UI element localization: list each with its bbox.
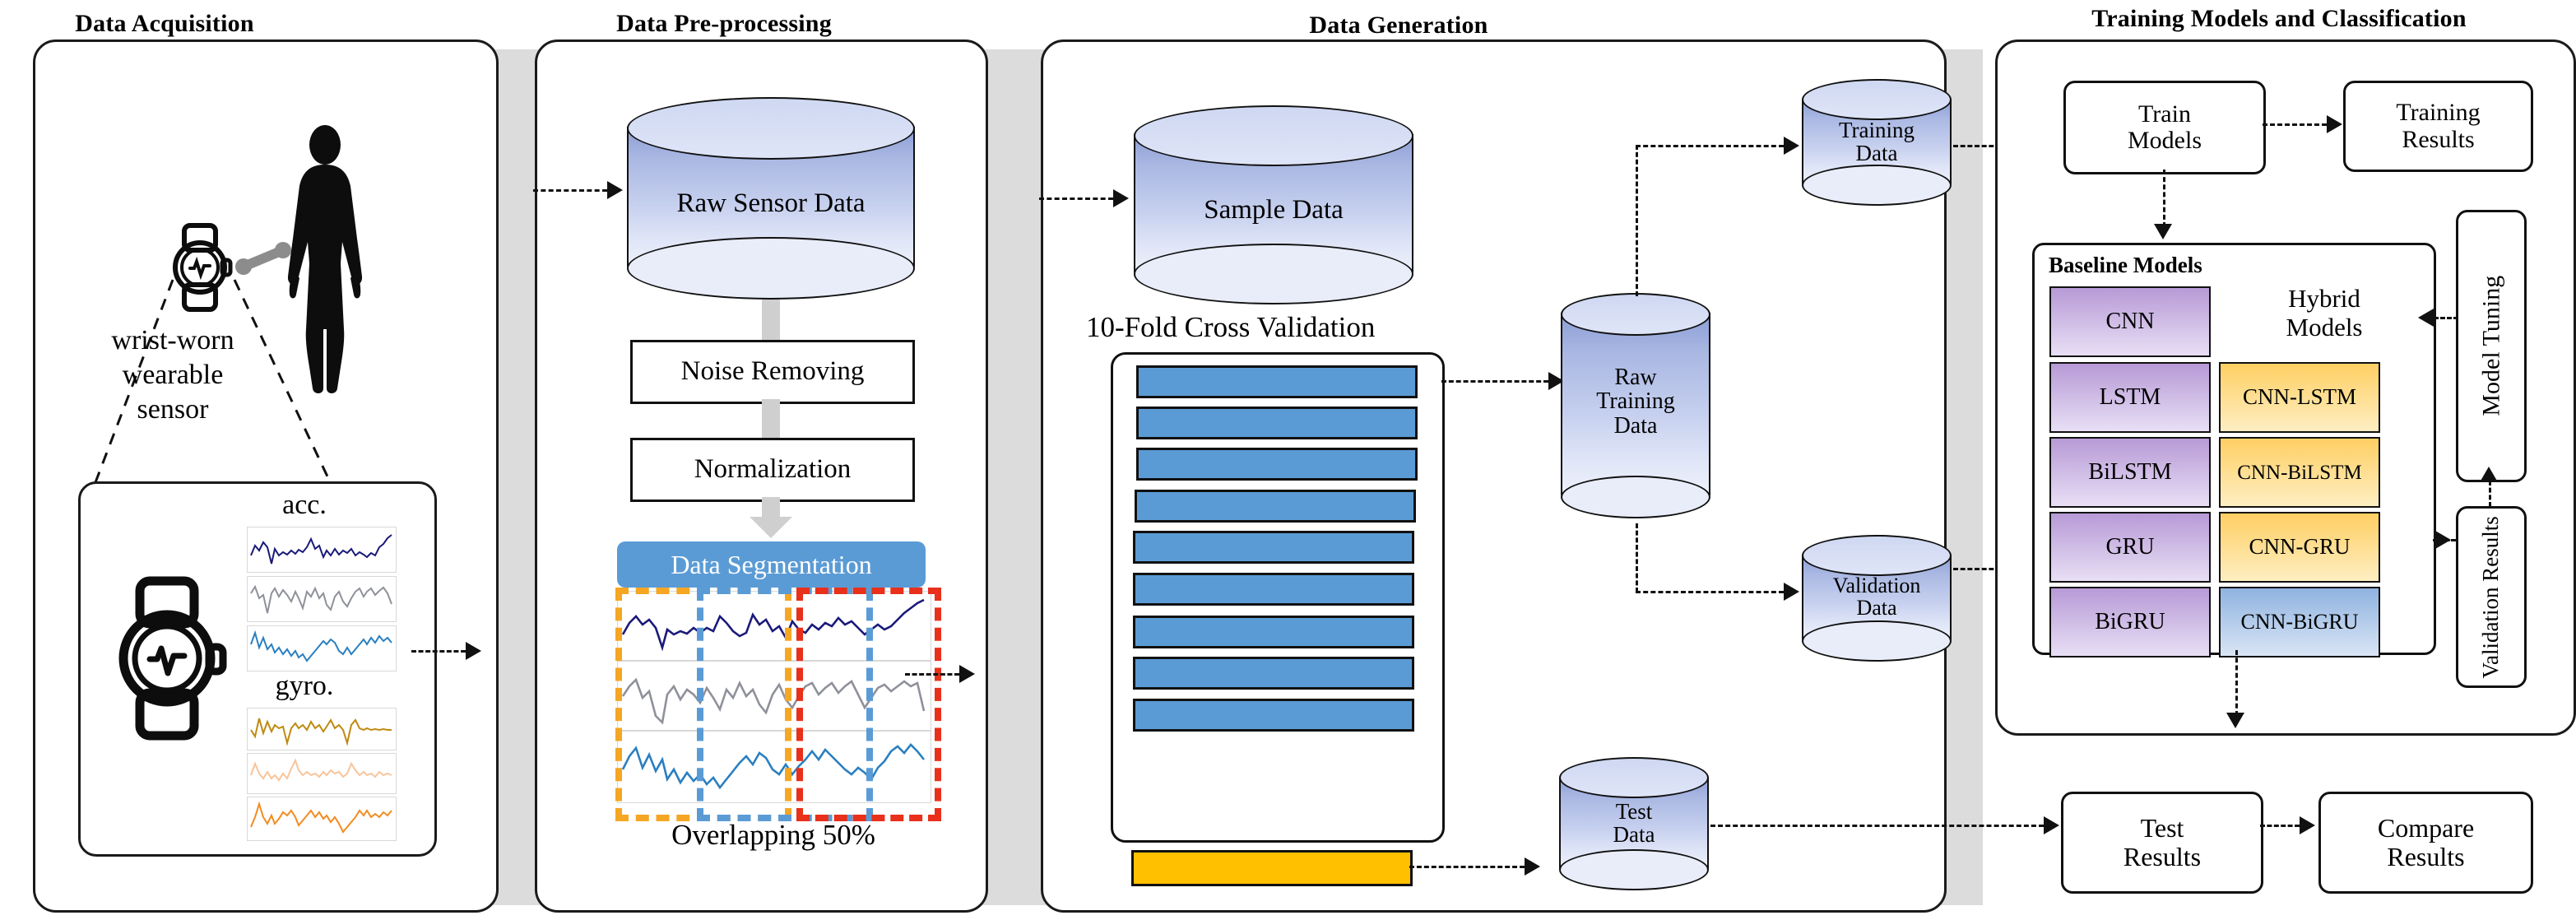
model-cnn-bigru-label: CNN-BiGRU (2240, 611, 2358, 634)
segment-window-c (796, 588, 941, 821)
training-results-box[interactable]: Training Results (2343, 81, 2533, 172)
step-noise-removing[interactable]: Noise Removing (630, 340, 915, 404)
baseline-models-title: Baseline Models (2049, 253, 2202, 278)
arrow-acquisition-to-preprocessing (411, 650, 466, 653)
model-cnn-lstm[interactable]: CNN-LSTM (2219, 362, 2380, 433)
cross-validation-title: 10-Fold Cross Validation (1086, 311, 1547, 344)
store-training-data-l2: Data (1802, 142, 1952, 165)
store-raw-training-data: Raw Training Data (1561, 293, 1710, 525)
model-bigru[interactable]: BiGRU (2049, 587, 2211, 657)
store-raw-training-data-l2: Training (1561, 389, 1710, 413)
sensor-caption-line3: sensor (66, 394, 280, 425)
model-cnn-gru-label: CNN-GRU (2249, 535, 2350, 559)
callout-lines (78, 272, 350, 510)
arrow-test-fold-to-test-data (1409, 866, 1525, 868)
overlap-caption: Overlapping 50% (609, 819, 938, 852)
store-sample-data-label: Sample Data (1134, 196, 1413, 225)
train-models-l2: Models (2128, 128, 2202, 154)
arrowhead-tuning-from-validation (2480, 467, 2498, 482)
panel-title-acquisition: Data Acquisition (49, 10, 280, 38)
arrow-train-models-to-training-results (2263, 123, 2327, 126)
hybrid-models-title-l2: Models (2242, 313, 2407, 342)
model-cnn-lstm-label: CNN-LSTM (2243, 385, 2356, 409)
flow-arrowhead-segmentation (750, 517, 792, 538)
arrowhead-test-results-from-models (2226, 713, 2244, 728)
training-results-l2: Results (2402, 127, 2474, 153)
fold-bar-8 (1133, 657, 1414, 690)
arrow-into-raw-sensor-data (533, 189, 607, 192)
arrow-raw-training-to-validation-data (1636, 591, 1784, 593)
store-sample-data: Sample Data (1134, 105, 1413, 301)
line-validation-to-tuning (2489, 481, 2491, 507)
model-bilstm-label: BiLSTM (2088, 460, 2171, 485)
arrow-model-tuning-to-models (2434, 317, 2458, 319)
signal-plot-gyro-x (247, 708, 397, 750)
flow-noise-to-normalization (762, 399, 780, 439)
fold-bar-9 (1133, 699, 1414, 732)
sensor-caption-line1: wrist-worn (66, 325, 280, 356)
validation-results-box[interactable]: Validation Results (2456, 506, 2527, 688)
data-segmentation-label: Data Segmentation (671, 551, 871, 579)
arrowhead-into-raw-sensor-data (607, 181, 623, 199)
signal-plot-gyro-y (247, 753, 397, 794)
line-models-to-test-results (2235, 650, 2238, 716)
flow-normalization-to-segmentation (762, 497, 780, 518)
store-training-data-l1: Training (1802, 118, 1952, 142)
arrowhead-acquisition-to-preprocessing (466, 642, 481, 660)
acc-label: acc. (239, 490, 370, 521)
step-noise-removing-label: Noise Removing (681, 357, 865, 387)
figure-canvas: Data Acquisition Data Pre-processing Dat… (0, 0, 2576, 920)
arrowhead-to-training-data (1784, 137, 1799, 155)
data-segmentation-button[interactable]: Data Segmentation (617, 541, 926, 588)
train-models-l1: Train (2138, 101, 2191, 128)
signal-plot-acc-z (247, 625, 397, 671)
test-results-box[interactable]: Test Results (2061, 792, 2263, 894)
test-results-l1: Test (2141, 814, 2184, 843)
step-normalization-label: Normalization (694, 455, 852, 485)
line-train-models-down (2163, 170, 2165, 227)
model-cnn-gru[interactable]: CNN-GRU (2219, 512, 2380, 583)
model-gru[interactable]: GRU (2049, 512, 2211, 583)
store-test-data-l2: Data (1559, 823, 1709, 846)
arrowhead-models-from-tuning (2418, 309, 2434, 327)
arrow-raw-training-to-training-data (1636, 145, 1784, 147)
test-results-l2: Results (2123, 843, 2201, 871)
fold-bar-3 (1136, 448, 1418, 481)
arrow-preprocessing-to-generation (905, 673, 959, 676)
fold-bar-10-test (1131, 850, 1413, 886)
model-cnn-bilstm-label: CNN-BiLSTM (2237, 462, 2361, 484)
arrow-test-results-to-compare-results (2260, 825, 2300, 827)
validation-results-l2: Results (2478, 516, 2503, 582)
arrowhead-into-sample-data (1113, 189, 1129, 207)
step-normalization[interactable]: Normalization (630, 438, 915, 502)
store-validation-data: Validation Data (1802, 535, 1952, 667)
signal-plot-gyro-z (247, 797, 397, 841)
arrow-test-data-to-test-results (1710, 825, 2044, 827)
signal-plot-acc-y (247, 576, 397, 622)
model-tuning-box[interactable]: Model Tuning (2456, 210, 2527, 482)
panel-title-generation: Data Generation (1193, 12, 1604, 39)
store-validation-data-l2: Data (1802, 597, 1952, 619)
model-cnn-bigru[interactable]: CNN-BiGRU (2219, 587, 2380, 657)
compare-results-box[interactable]: Compare Results (2318, 792, 2533, 894)
model-cnn[interactable]: CNN (2049, 286, 2211, 357)
model-gru-label: GRU (2105, 535, 2154, 560)
fold-bar-1 (1136, 365, 1418, 398)
signal-plot-acc-x (247, 527, 397, 573)
model-tuning-label: Model Tuning (2478, 276, 2504, 416)
panel-title-training: Training Models and Classification (1991, 5, 2567, 33)
fold-bar-5 (1133, 531, 1414, 564)
train-models-box[interactable]: Train Models (2063, 81, 2266, 174)
arrowhead-test-results (2044, 816, 2059, 834)
fold-bar-4 (1135, 490, 1416, 523)
model-cnn-bilstm[interactable]: CNN-BiLSTM (2219, 437, 2380, 508)
validation-results-l1: Validation (2478, 587, 2503, 678)
model-bilstm[interactable]: BiLSTM (2049, 437, 2211, 508)
store-training-data: Training Data (1802, 79, 1952, 211)
store-raw-sensor-data-label: Raw Sensor Data (627, 189, 915, 218)
model-lstm[interactable]: LSTM (2049, 362, 2211, 433)
sensor-caption-line2: wearable (66, 360, 280, 391)
arrowhead-to-validation-data (1784, 583, 1799, 601)
store-raw-sensor-data: Raw Sensor Data (627, 97, 915, 296)
arrowhead-preprocessing-to-generation (959, 665, 975, 683)
fold-bar-6 (1133, 573, 1414, 606)
model-cnn-label: CNN (2105, 309, 2154, 334)
arrowhead-baseline-from-train-models (2154, 224, 2172, 239)
store-raw-training-data-l1: Raw (1561, 365, 1710, 389)
gyro-label: gyro. (239, 671, 370, 702)
panel-title-preprocessing: Data Pre-processing (551, 10, 897, 38)
arrowhead-validation-results (2435, 531, 2451, 549)
model-bigru-label: BiGRU (2095, 610, 2165, 634)
model-lstm-label: LSTM (2100, 385, 2161, 410)
store-test-data-l1: Test (1559, 800, 1709, 823)
arrowhead-test-fold-to-test-data (1525, 857, 1540, 876)
store-test-data: Test Data (1559, 757, 1709, 897)
compare-results-l1: Compare (2378, 814, 2474, 843)
validation-results-label: Validation Results (2479, 516, 2504, 678)
hybrid-models-title-l1: Hybrid (2242, 284, 2407, 314)
line-raw-training-down (1636, 523, 1638, 592)
smartwatch-icon (105, 576, 229, 741)
store-raw-training-data-l3: Data (1561, 414, 1710, 438)
line-raw-training-up (1636, 145, 1638, 296)
training-results-l1: Training (2396, 100, 2480, 126)
fold-bar-2 (1136, 407, 1418, 439)
arrow-folds-to-raw-training (1441, 380, 1548, 383)
arrow-into-sample-data (1039, 197, 1113, 200)
compare-results-l2: Results (2387, 843, 2464, 871)
store-validation-data-l1: Validation (1802, 574, 1952, 597)
arrowhead-compare-results (2300, 816, 2315, 834)
fold-bar-7 (1133, 616, 1414, 648)
arrowhead-training-results (2327, 115, 2342, 133)
